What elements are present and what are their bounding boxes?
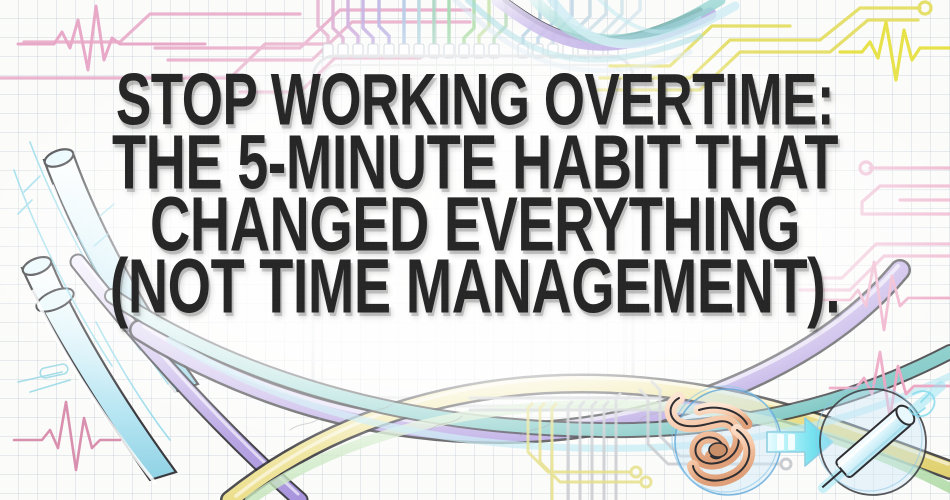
headline-line-4: (NOT TIME MANAGEMENT). xyxy=(33,256,917,317)
page-title: STOP WORKING OVERTIME: THE 5-MINUTE HABI… xyxy=(0,72,950,304)
banner-image: STOP WORKING OVERTIME: THE 5-MINUTE HABI… xyxy=(0,0,950,500)
